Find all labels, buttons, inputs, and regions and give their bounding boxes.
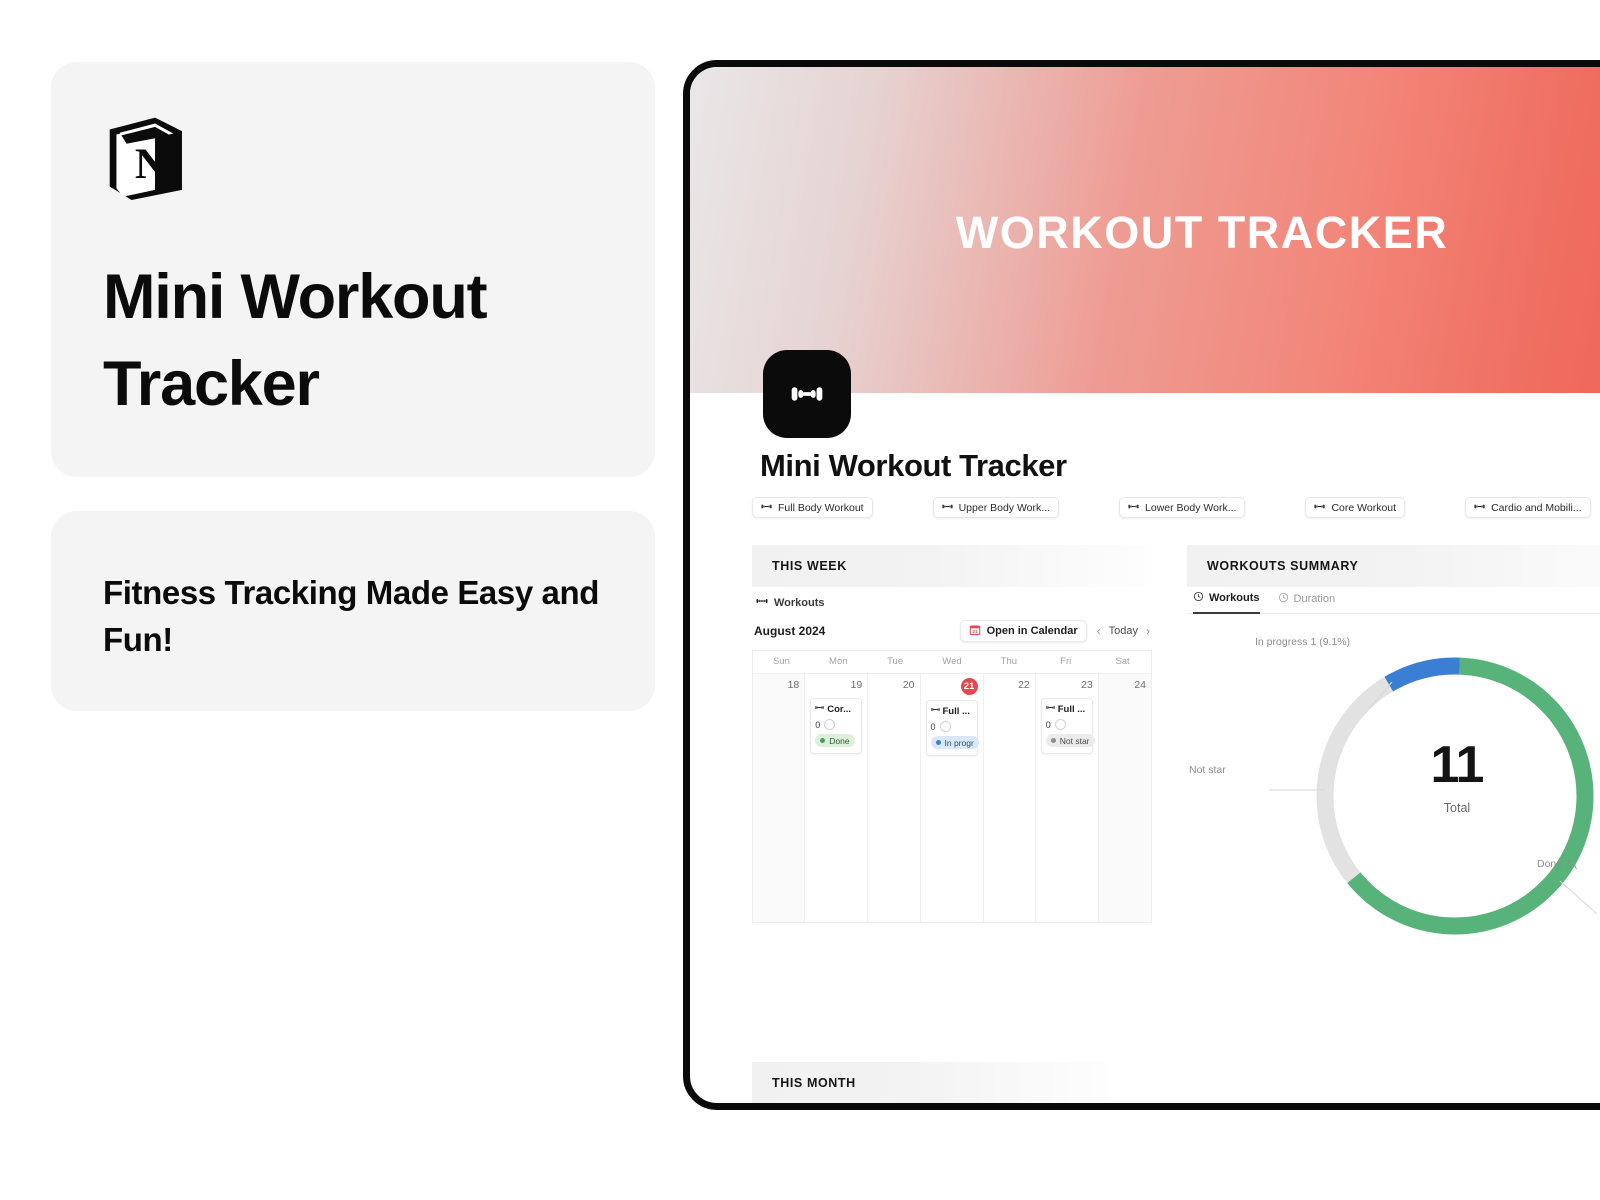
day-header: Mon: [810, 651, 867, 673]
status-dot-icon: [936, 740, 941, 745]
status-badge: Not star: [1046, 734, 1095, 747]
chip-lower-body-workout[interactable]: Lower Body Work...: [1119, 497, 1245, 518]
section-header-this-month: THIS MONTH: [752, 1062, 1112, 1103]
tab-duration[interactable]: Duration: [1278, 592, 1336, 613]
leader-done: [1560, 881, 1597, 914]
dumbbell-icon: [1128, 501, 1139, 515]
day-header: Sat: [1094, 651, 1151, 673]
progress-ring-icon: [1055, 719, 1066, 730]
calendar-event-card[interactable]: Full ... 0 Not star: [1041, 698, 1093, 754]
dumbbell-icon: [1046, 703, 1055, 715]
day-number-today: 21: [961, 678, 978, 695]
progress-ring-icon: [940, 721, 951, 732]
dumbbell-icon: [761, 501, 772, 515]
chip-label: Full Body Workout: [778, 502, 864, 514]
workouts-donut-chart: 11 Total In progress 1 (9.1%) Not star D…: [1187, 614, 1600, 1014]
clock-icon: [1193, 591, 1204, 605]
status-label: Done: [829, 736, 849, 746]
dumbbell-icon: [931, 705, 940, 717]
calendar-cell-today[interactable]: 21 Full ... 0: [921, 674, 984, 922]
calendar-toolbar: August 2024 21 Open in Calendar: [752, 618, 1152, 650]
section-label: THIS MONTH: [772, 1076, 856, 1090]
donut-label-not-started: Not star: [1189, 764, 1226, 776]
chip-label: Cardio and Mobili...: [1491, 502, 1581, 514]
chip-full-body-workout[interactable]: Full Body Workout: [752, 497, 873, 518]
event-count: 0: [1046, 720, 1051, 730]
device-screen: WORKOUT TRACKER Mini Workout Tracker: [690, 67, 1600, 1103]
notion-logo-icon: N: [103, 112, 187, 204]
svg-text:21: 21: [972, 629, 978, 634]
event-title-row: Full ...: [1046, 703, 1088, 715]
calendar-cell[interactable]: 20: [868, 674, 920, 922]
svg-text:N: N: [135, 140, 167, 188]
dumbbell-icon: [1314, 501, 1325, 515]
workout-category-chips: Full Body Workout Upper Body Work... Low…: [752, 497, 1600, 518]
tab-label: Duration: [1294, 593, 1336, 605]
event-title-row: Full ...: [931, 705, 973, 717]
left-panel: N Mini Workout Tracker Fitness Tracking …: [0, 0, 700, 1200]
status-badge: In progr: [931, 736, 979, 749]
event-title: Cor...: [827, 704, 851, 715]
open-in-calendar-button[interactable]: 21 Open in Calendar: [960, 620, 1087, 642]
day-number: 19: [810, 678, 862, 693]
status-label: Not star: [1060, 736, 1090, 746]
day-header: Sun: [753, 651, 810, 673]
database-name-label: Workouts: [774, 597, 825, 609]
event-title: Full ...: [943, 706, 970, 717]
title-card: N Mini Workout Tracker: [51, 62, 655, 477]
status-dot-icon: [820, 738, 825, 743]
calendar-month-label: August 2024: [754, 624, 825, 638]
event-count: 0: [815, 720, 820, 730]
tab-workouts[interactable]: Workouts: [1193, 591, 1260, 614]
dumbbell-icon: [763, 350, 851, 438]
calendar-day-headers: Sun Mon Tue Wed Thu Fri Sat: [753, 651, 1151, 674]
dumbbell-icon: [942, 501, 953, 515]
calendar-block: Workouts August 2024 21: [752, 591, 1152, 923]
section-header-this-week: THIS WEEK: [752, 545, 1152, 587]
page-subtitle: Fitness Tracking Made Easy and Fun!: [103, 569, 603, 663]
calendar-cell[interactable]: 18: [753, 674, 805, 922]
doc-title: Mini Workout Tracker: [760, 448, 1067, 484]
today-button[interactable]: Today: [1109, 625, 1138, 637]
event-title: Full ...: [1058, 704, 1085, 715]
day-number: 23: [1041, 678, 1093, 693]
status-label: In progr: [945, 738, 974, 748]
chip-label: Lower Body Work...: [1145, 502, 1236, 514]
donut-label-done: Done 7 (: [1537, 858, 1577, 870]
calendar-grid: Sun Mon Tue Wed Thu Fri Sat 18: [752, 650, 1152, 923]
calendar-cell[interactable]: 19 Cor... 0: [805, 674, 868, 922]
day-header: Wed: [924, 651, 981, 673]
chip-core-workout[interactable]: Core Workout: [1305, 497, 1405, 518]
calendar-nav: ‹ Today ›: [1097, 624, 1150, 638]
calendar-event-card[interactable]: Cor... 0 Done: [810, 698, 862, 754]
summary-tabs: Workouts Duration: [1187, 591, 1600, 614]
day-number: 24: [1104, 678, 1146, 693]
chevron-right-icon[interactable]: ›: [1146, 624, 1150, 638]
chip-label: Core Workout: [1331, 502, 1396, 514]
chip-label: Upper Body Work...: [959, 502, 1050, 514]
donut-label-in-progress: In progress 1 (9.1%): [1255, 636, 1350, 648]
calendar-21-icon: 21: [969, 624, 981, 639]
cover-banner: WORKOUT TRACKER: [690, 67, 1600, 393]
section-label: WORKOUTS SUMMARY: [1207, 559, 1359, 573]
banner-title: WORKOUT TRACKER: [709, 207, 1600, 259]
event-meta: 0: [931, 721, 973, 732]
database-name[interactable]: Workouts: [752, 591, 1152, 618]
chevron-left-icon[interactable]: ‹: [1097, 624, 1101, 638]
calendar-cell[interactable]: 23 Full ... 0: [1036, 674, 1099, 922]
dumbbell-icon: [756, 595, 768, 610]
chip-cardio-and-mobility[interactable]: Cardio and Mobili...: [1465, 497, 1590, 518]
chip-upper-body-workout[interactable]: Upper Body Work...: [933, 497, 1059, 518]
donut-center: 11 Total: [1322, 739, 1592, 815]
calendar-event-card[interactable]: Full ... 0 In progr: [926, 700, 978, 756]
day-number: 20: [873, 678, 914, 693]
status-badge: Done: [815, 734, 854, 747]
section-header-workouts-summary: WORKOUTS SUMMARY: [1187, 545, 1600, 587]
clock-icon: [1278, 592, 1289, 606]
day-header: Thu: [980, 651, 1037, 673]
section-label: THIS WEEK: [772, 559, 847, 573]
event-title-row: Cor...: [815, 703, 857, 715]
donut-total-value: 11: [1322, 739, 1592, 791]
event-meta: 0: [1046, 719, 1088, 730]
dumbbell-icon: [1474, 501, 1485, 515]
dumbbell-icon: [815, 703, 824, 715]
day-number: 18: [758, 678, 799, 693]
calendar-cell[interactable]: 24: [1099, 674, 1151, 922]
device-frame: WORKOUT TRACKER Mini Workout Tracker: [683, 60, 1600, 1110]
progress-ring-icon: [824, 719, 835, 730]
calendar-cell[interactable]: 22: [984, 674, 1036, 922]
event-meta: 0: [815, 719, 857, 730]
event-count: 0: [931, 722, 936, 732]
calendar-controls: 21 Open in Calendar ‹ Today ›: [960, 620, 1150, 642]
donut-total-label: Total: [1322, 801, 1592, 815]
day-header: Fri: [1037, 651, 1094, 673]
status-dot-icon: [1051, 738, 1056, 743]
poster-root: N Mini Workout Tracker Fitness Tracking …: [0, 0, 1600, 1200]
page-title: Mini Workout Tracker: [103, 254, 623, 428]
tab-label: Workouts: [1209, 592, 1260, 604]
workouts-summary-block: Workouts Duration: [1187, 591, 1600, 1014]
day-header: Tue: [867, 651, 924, 673]
subtitle-card: Fitness Tracking Made Easy and Fun!: [51, 511, 655, 711]
open-in-calendar-label: Open in Calendar: [987, 625, 1078, 637]
calendar-days: 18 19 Cor...: [753, 674, 1151, 922]
day-number: 22: [989, 678, 1030, 693]
